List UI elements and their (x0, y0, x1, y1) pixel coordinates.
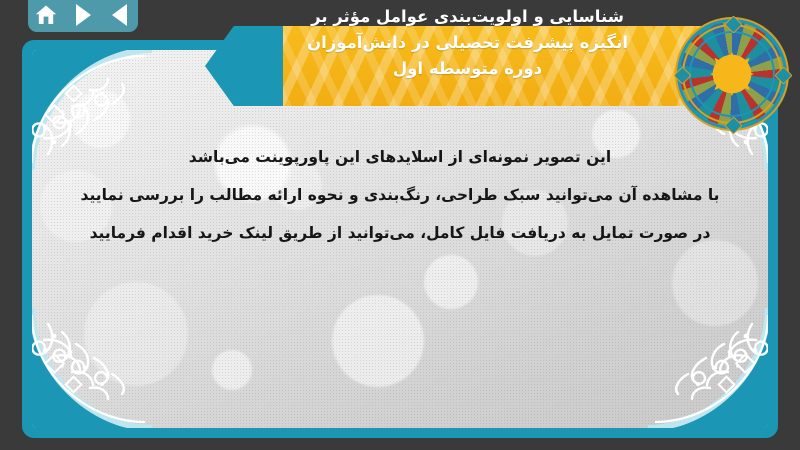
nav-home-button[interactable] (33, 2, 59, 28)
banner-tail-shape (205, 26, 285, 106)
bokeh-circle-icon (84, 282, 188, 386)
nav-forward-button[interactable] (70, 2, 96, 28)
bokeh-circle-icon (332, 295, 424, 387)
slide-navigation-bar (28, 0, 138, 32)
triangle-left-icon (112, 4, 127, 26)
bokeh-circle-icon (212, 350, 252, 390)
arabesque-corner-icon (648, 308, 768, 428)
body-line-2: با مشاهده آن می‌توانید سبک طراحی، رنگ‌بن… (32, 176, 768, 214)
nav-back-button[interactable] (107, 2, 133, 28)
title-banner: شناسایی و اولویت‌بندی عوامل مؤثر بر انگی… (205, 26, 750, 106)
bokeh-circle-icon (424, 255, 478, 309)
medallion-gem (724, 15, 742, 33)
persian-medallion-icon (680, 22, 784, 126)
body-line-1: این تصویر نمونه‌ای از اسلایدهای این پاور… (32, 138, 768, 176)
body-line-3: در صورت تمایل به دریافت فایل کامل، می‌تو… (32, 214, 768, 252)
triangle-right-icon (76, 4, 91, 26)
slide-canvas: این تصویر نمونه‌ای از اسلایدهای این پاور… (32, 50, 768, 428)
medallion-gem (774, 66, 792, 84)
slide-body-text: این تصویر نمونه‌ای از اسلایدهای این پاور… (32, 138, 768, 252)
bokeh-circle-icon (672, 240, 758, 326)
home-icon (34, 3, 58, 27)
eight-point-star-icon (710, 52, 754, 96)
presentation-slide: این تصویر نمونه‌ای از اسلایدهای این پاور… (0, 0, 800, 450)
